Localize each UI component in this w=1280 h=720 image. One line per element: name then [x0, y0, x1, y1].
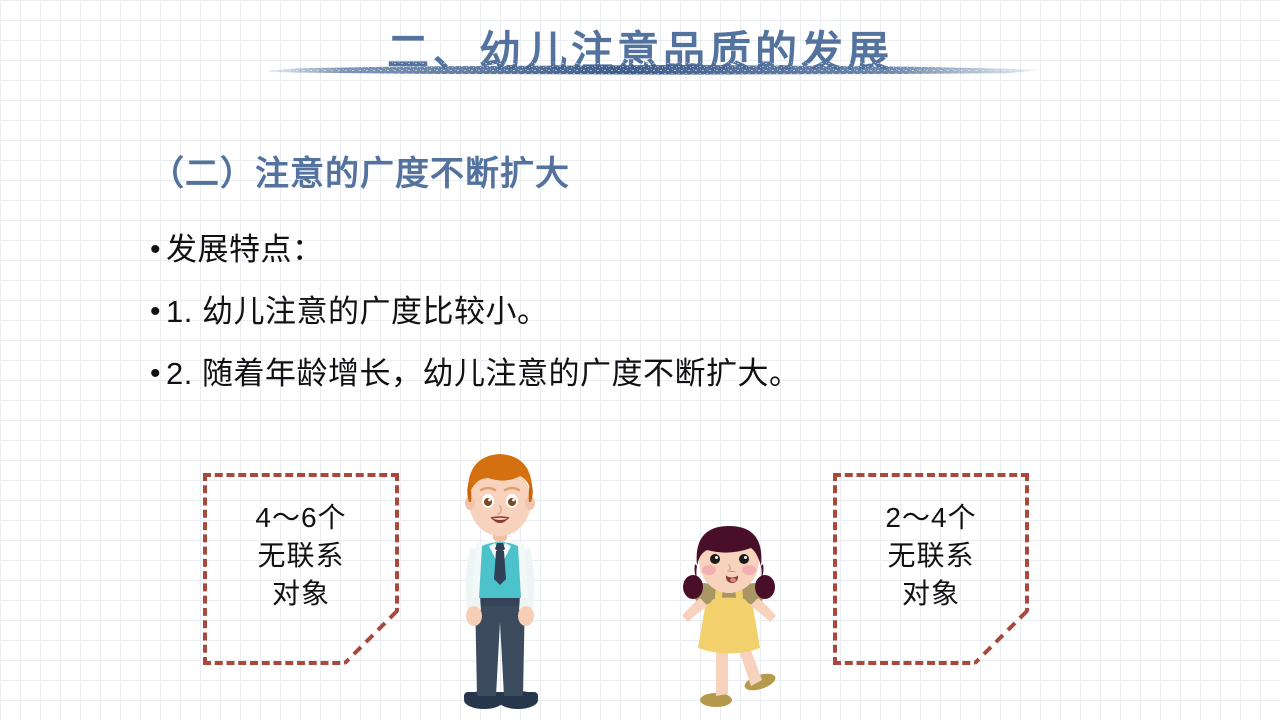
boy-illustration: [443, 446, 557, 710]
list-item: • 发展特点：: [150, 228, 1050, 272]
slide-canvas: 二、幼儿注意品质的发展 （二）注意的广度不断扩大 •: [0, 0, 1280, 720]
callout-box-left: 4～6个 无联系 对象: [203, 473, 399, 665]
bullet-dot-icon: •: [150, 228, 166, 272]
list-item-label: 1. 幼儿注意的广度比较小。: [166, 290, 548, 334]
bullet-dot-icon: •: [150, 352, 166, 396]
callout-text-left: 4～6个 无联系 对象: [203, 499, 399, 613]
callout-text-right: 2～4个 无联系 对象: [833, 499, 1029, 613]
bullet-list: • 发展特点： • 1. 幼儿注意的广度比较小。 • 2. 随着年龄增长，幼儿注…: [150, 228, 1050, 414]
slide-title-block: 二、幼儿注意品质的发展: [0, 28, 1280, 76]
list-item: • 2. 随着年龄增长，幼儿注意的广度不断扩大。: [150, 352, 1050, 396]
list-item-label: 发展特点：: [166, 228, 324, 272]
page-title: 二、幼儿注意品质的发展: [0, 28, 1280, 76]
girl-illustration: [676, 524, 782, 710]
list-item-label: 2. 随着年龄增长，幼儿注意的广度不断扩大。: [166, 352, 800, 396]
list-item: • 1. 幼儿注意的广度比较小。: [150, 290, 1050, 334]
bullet-dot-icon: •: [150, 290, 166, 334]
callout-box-right: 2～4个 无联系 对象: [833, 473, 1029, 665]
section-subtitle: （二）注意的广度不断扩大: [150, 146, 570, 195]
